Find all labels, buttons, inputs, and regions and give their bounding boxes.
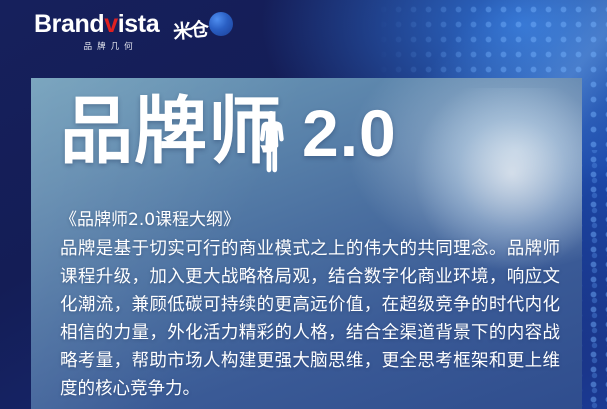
brand-wordmark-accent-v: v [104,10,118,38]
hero-title-version: 2.0 [302,100,397,166]
brand-wordmark: Brandvista [34,12,159,37]
brand-wordmark-post: ista [118,10,159,38]
brand-subtitle: 品牌几何 [34,40,159,52]
brand-logo-mark: 米仓 [173,12,235,48]
promo-poster: Brandvista 品牌几何 米仓 品牌师 2.0 《品牌师2.0课程大纲》 … [0,0,607,409]
course-outline-heading: 《品牌师2.0课程大纲》 [60,206,560,234]
brand-logo-text: Brandvista 品牌几何 [34,12,159,52]
brand-logo[interactable]: Brandvista 品牌几何 米仓 [34,12,235,52]
poster-header: Brandvista 品牌几何 米仓 [0,0,607,68]
course-outline-paragraph: 品牌是基于切实可行的商业模式之上的伟大的共同理念。品牌师课程升级，加入更大战略格… [60,235,560,403]
hero-title: 品牌师 2.0 [60,95,397,175]
content-card: 品牌师 2.0 《品牌师2.0课程大纲》 品牌是基于切实可行的商业模式之上的伟大… [31,78,582,409]
hero-title-cjk: 品牌师 [60,95,282,168]
brand-wordmark-pre: Brand [34,10,104,38]
blue-circle-icon [209,12,233,36]
course-description: 《品牌师2.0课程大纲》 品牌是基于切实可行的商业模式之上的伟大的共同理念。品牌… [60,206,560,403]
brand-logo-mark-cjk: 米仓 [172,14,209,44]
